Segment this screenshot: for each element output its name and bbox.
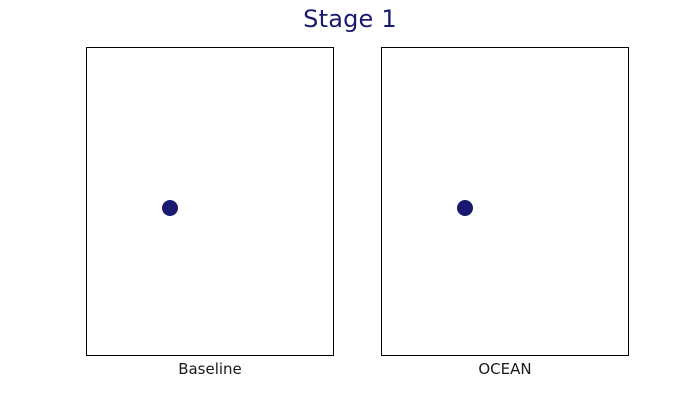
panel-ocean-frame	[381, 47, 629, 356]
panel-baseline-label: Baseline	[86, 358, 334, 380]
panel-baseline-frame	[86, 47, 334, 356]
panel-ocean-label: OCEAN	[381, 358, 629, 380]
agent-position-marker	[162, 200, 178, 216]
figure-canvas: Stage 1 Baseline OCEAN	[0, 0, 700, 400]
panel-baseline: Baseline	[86, 47, 334, 356]
panel-ocean: OCEAN	[381, 47, 629, 356]
agent-position-marker	[457, 200, 473, 216]
page-title: Stage 1	[0, 3, 700, 35]
